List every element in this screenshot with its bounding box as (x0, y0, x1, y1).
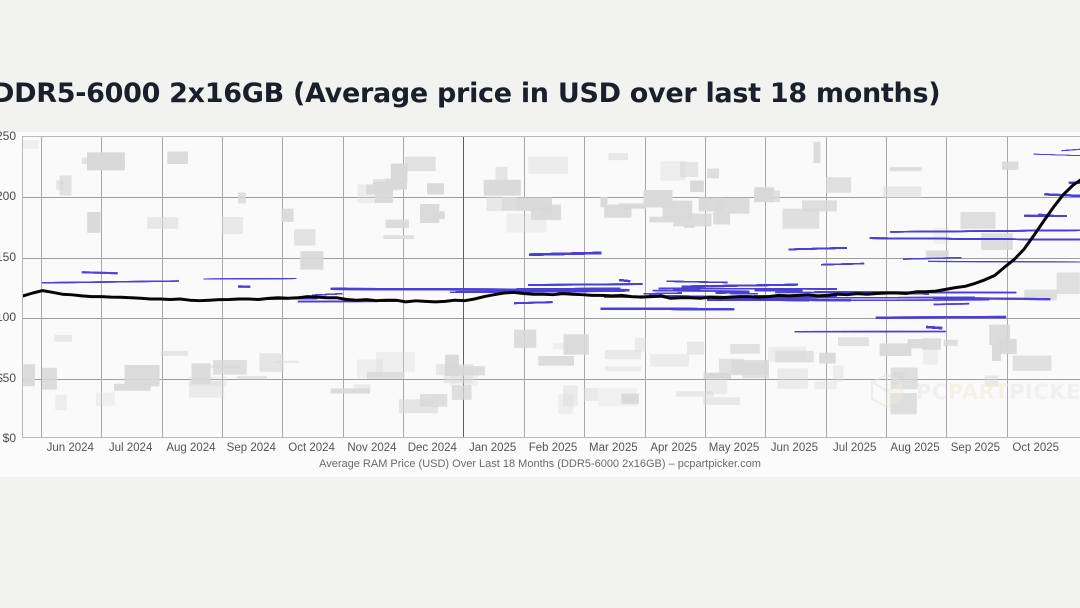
x-axis-tick-label: Jan 2025 (469, 442, 516, 454)
x-axis-tick-label: Jul 2025 (833, 442, 876, 454)
screenshot-root: DDR5-6000 2x16GB (Average price in USD o… (0, 0, 1080, 608)
y-axis-tick-label: $250 (0, 129, 16, 143)
page-title: DDR5-6000 2x16GB (Average price in USD o… (0, 78, 992, 109)
chart-data-layer (23, 137, 1080, 437)
y-axis-tick-label: $150 (0, 250, 16, 264)
x-axis-tick-label: Apr 2025 (650, 442, 697, 454)
individual-listing-traces (42, 149, 1080, 332)
y-axis-tick-label: $200 (0, 189, 16, 203)
y-axis-tick-label: $50 (0, 371, 16, 385)
x-axis-tick-label: Feb 2025 (529, 442, 578, 454)
x-axis-tick-label: Jun 2025 (771, 442, 818, 454)
x-axis-tick-label: Aug 2024 (166, 442, 215, 454)
plot-area (22, 136, 1080, 438)
x-axis-tick-label: Dec 2024 (408, 442, 457, 454)
x-axis-tick-label: May 2025 (709, 442, 760, 454)
x-axis-tick-label: Oct 2025 (1012, 442, 1059, 454)
y-axis-tick-label: $100 (0, 310, 16, 324)
listing-scatter-band (23, 140, 1080, 414)
x-axis-tick-label: Nov 2024 (347, 442, 396, 454)
x-axis-tick-label: Sep 2024 (227, 442, 276, 454)
average-price-line (23, 178, 1080, 302)
chart-figure: $0$50$100$150$200$250 Jun 2024Jul 2024Au… (0, 132, 1080, 477)
x-axis-tick-label: Mar 2025 (589, 442, 638, 454)
x-axis-tick-label: Aug 2025 (890, 442, 939, 454)
x-axis-tick-label: Jul 2024 (109, 442, 152, 454)
x-axis-tick-label: Oct 2024 (288, 442, 335, 454)
chart-caption: Average RAM Price (USD) Over Last 18 Mon… (0, 458, 1080, 470)
y-axis-tick-label: $0 (0, 431, 16, 445)
x-axis-tick-label: Jun 2024 (47, 442, 94, 454)
x-axis-tick-label: Sep 2025 (951, 442, 1000, 454)
